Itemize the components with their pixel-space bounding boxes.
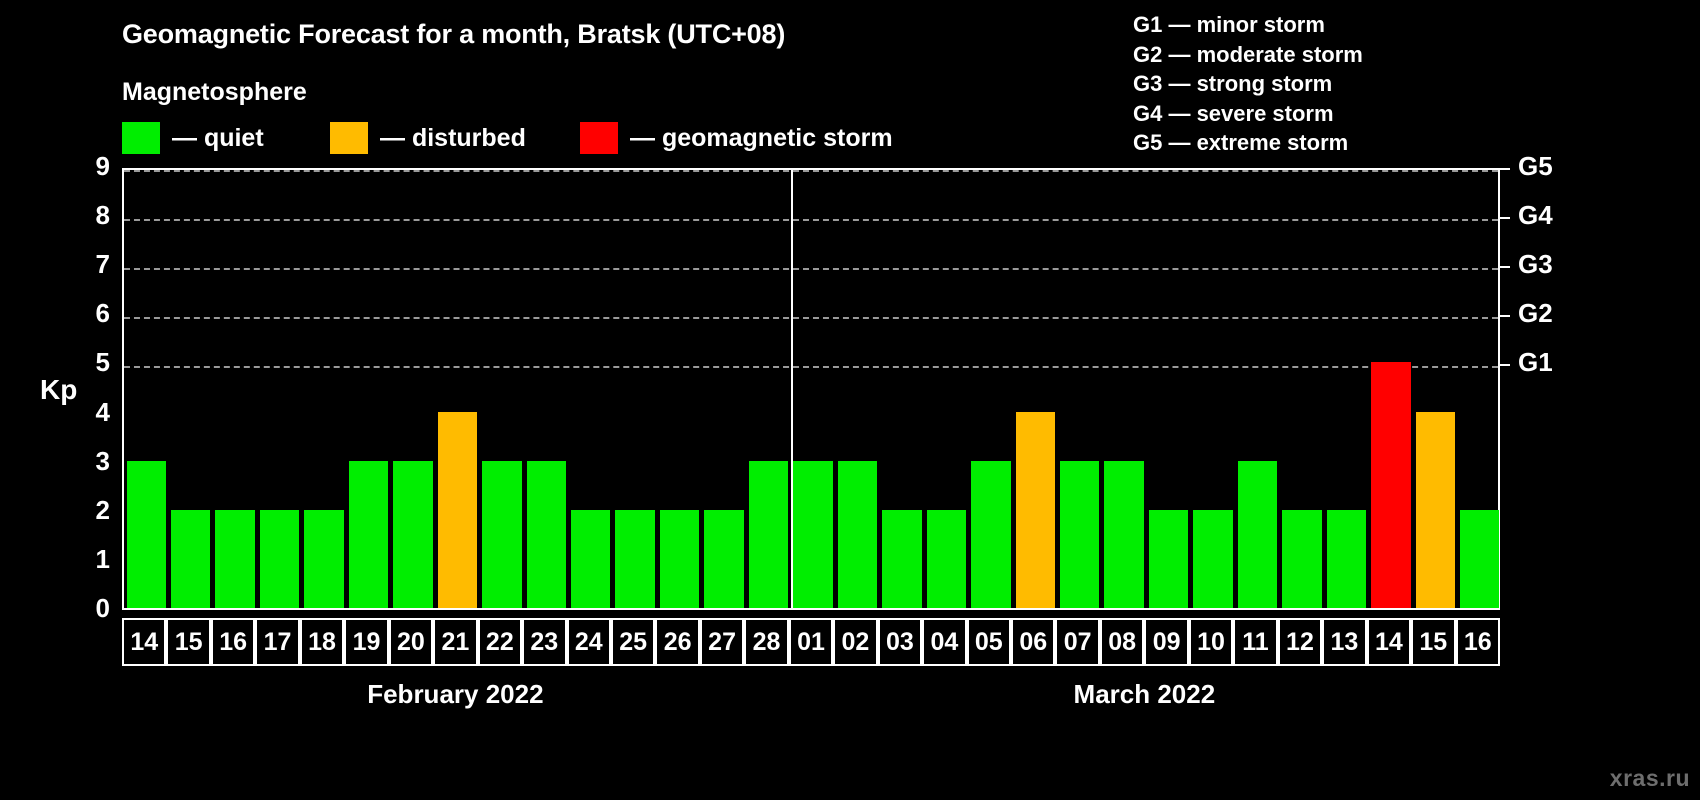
bar-february-15[interactable] [171, 510, 210, 608]
day-label-march-03[interactable]: 03 [878, 618, 922, 666]
g-tick-mark-G4 [1500, 217, 1510, 219]
watermark: xras.ru [1610, 765, 1690, 792]
day-label-february-25[interactable]: 25 [611, 618, 655, 666]
month-caption-february: February 2022 [122, 679, 789, 710]
day-label-march-09[interactable]: 09 [1144, 618, 1188, 666]
g-tick-label-G2: G2 [1518, 298, 1553, 329]
day-label-february-24[interactable]: 24 [567, 618, 611, 666]
day-label-march-05[interactable]: 05 [967, 618, 1011, 666]
g-tick-mark-G3 [1500, 266, 1510, 268]
bar-february-26[interactable] [660, 510, 699, 608]
y-tick-label-0: 0 [70, 593, 110, 624]
day-label-march-15[interactable]: 15 [1411, 618, 1455, 666]
day-label-february-23[interactable]: 23 [522, 618, 566, 666]
bar-march-04[interactable] [927, 510, 966, 608]
bar-february-27[interactable] [704, 510, 743, 608]
bar-march-16[interactable] [1460, 510, 1499, 608]
bar-march-08[interactable] [1104, 461, 1143, 608]
bar-february-16[interactable] [215, 510, 254, 608]
page-title: Geomagnetic Forecast for a month, Bratsk… [122, 19, 785, 50]
legend-entry-quiet: — quiet [122, 121, 264, 155]
y-tick-label-8: 8 [70, 200, 110, 231]
bar-february-19[interactable] [349, 461, 388, 608]
legend-entry-geomagnetic-storm: — geomagnetic storm [580, 121, 893, 155]
g-tick-label-G3: G3 [1518, 249, 1553, 280]
bar-february-14[interactable] [127, 461, 166, 608]
bar-february-18[interactable] [304, 510, 343, 608]
day-label-february-14[interactable]: 14 [122, 618, 166, 666]
legend-swatch-quiet [122, 122, 160, 154]
bar-march-12[interactable] [1282, 510, 1321, 608]
day-label-march-14[interactable]: 14 [1367, 618, 1411, 666]
g-tick-label-G1: G1 [1518, 347, 1553, 378]
bar-march-01[interactable] [793, 461, 832, 608]
day-label-march-13[interactable]: 13 [1322, 618, 1366, 666]
bar-february-20[interactable] [393, 461, 432, 608]
bar-march-11[interactable] [1238, 461, 1277, 608]
day-label-february-26[interactable]: 26 [655, 618, 699, 666]
day-label-february-27[interactable]: 27 [700, 618, 744, 666]
bar-march-15[interactable] [1416, 412, 1455, 608]
g-tick-label-G5: G5 [1518, 151, 1553, 182]
x-axis-day-labels: 1415161718192021222324252627280102030405… [122, 618, 1500, 666]
g-tick-label-G4: G4 [1518, 200, 1553, 231]
day-label-march-16[interactable]: 16 [1456, 618, 1500, 666]
y-tick-label-4: 4 [70, 397, 110, 428]
bar-february-23[interactable] [527, 461, 566, 608]
g-legend-row-5: G5 — extreme storm [1133, 128, 1363, 158]
legend-swatch-geomagnetic-storm [580, 122, 618, 154]
y-tick-label-9: 9 [70, 151, 110, 182]
bar-february-17[interactable] [260, 510, 299, 608]
day-label-february-20[interactable]: 20 [389, 618, 433, 666]
y-tick-label-5: 5 [70, 347, 110, 378]
bar-march-03[interactable] [882, 510, 921, 608]
day-label-march-11[interactable]: 11 [1233, 618, 1277, 666]
day-label-march-02[interactable]: 02 [833, 618, 877, 666]
day-label-february-16[interactable]: 16 [211, 618, 255, 666]
bar-march-09[interactable] [1149, 510, 1188, 608]
g-legend-row-3: G3 — strong storm [1133, 69, 1363, 99]
bar-march-10[interactable] [1193, 510, 1232, 608]
day-label-february-21[interactable]: 21 [433, 618, 477, 666]
day-label-march-01[interactable]: 01 [789, 618, 833, 666]
bar-march-13[interactable] [1327, 510, 1366, 608]
y-tick-label-7: 7 [70, 249, 110, 280]
day-label-march-07[interactable]: 07 [1055, 618, 1099, 666]
day-label-february-28[interactable]: 28 [744, 618, 788, 666]
bar-february-24[interactable] [571, 510, 610, 608]
magnetosphere-heading: Magnetosphere [122, 78, 307, 107]
y-tick-label-2: 2 [70, 495, 110, 526]
month-caption-march: March 2022 [789, 679, 1500, 710]
day-label-february-19[interactable]: 19 [344, 618, 388, 666]
bar-february-25[interactable] [615, 510, 654, 608]
day-label-february-22[interactable]: 22 [478, 618, 522, 666]
bar-march-14[interactable] [1371, 362, 1410, 608]
day-label-february-17[interactable]: 17 [255, 618, 299, 666]
legend-entry-disturbed: — disturbed [330, 121, 526, 155]
day-label-march-04[interactable]: 04 [922, 618, 966, 666]
g-tick-mark-G1 [1500, 364, 1510, 366]
bar-february-21[interactable] [438, 412, 477, 608]
legend-swatch-disturbed [330, 122, 368, 154]
g-tick-mark-G5 [1500, 168, 1510, 170]
legend-label-disturbed: — disturbed [380, 124, 526, 153]
day-label-february-18[interactable]: 18 [300, 618, 344, 666]
g-tick-mark-G2 [1500, 315, 1510, 317]
g-legend-row-1: G1 — minor storm [1133, 10, 1363, 40]
bar-march-06[interactable] [1016, 412, 1055, 608]
y-tick-label-3: 3 [70, 446, 110, 477]
legend-label-geomagnetic-storm: — geomagnetic storm [630, 124, 893, 153]
y-tick-label-6: 6 [70, 298, 110, 329]
bar-february-28[interactable] [749, 461, 788, 608]
y-tick-label-1: 1 [70, 544, 110, 575]
bars-layer [124, 170, 1498, 608]
legend-label-quiet: — quiet [172, 124, 264, 153]
day-label-march-08[interactable]: 08 [1100, 618, 1144, 666]
g-scale-legend: G1 — minor stormG2 — moderate stormG3 — … [1133, 10, 1363, 158]
bar-february-22[interactable] [482, 461, 521, 608]
g-legend-row-4: G4 — severe storm [1133, 99, 1363, 129]
bar-march-05[interactable] [971, 461, 1010, 608]
bar-march-02[interactable] [838, 461, 877, 608]
day-label-march-12[interactable]: 12 [1278, 618, 1322, 666]
bar-march-07[interactable] [1060, 461, 1099, 608]
day-label-february-15[interactable]: 15 [166, 618, 210, 666]
g-legend-row-2: G2 — moderate storm [1133, 40, 1363, 70]
plot-area [122, 168, 1500, 610]
day-label-march-10[interactable]: 10 [1189, 618, 1233, 666]
day-label-march-06[interactable]: 06 [1011, 618, 1055, 666]
